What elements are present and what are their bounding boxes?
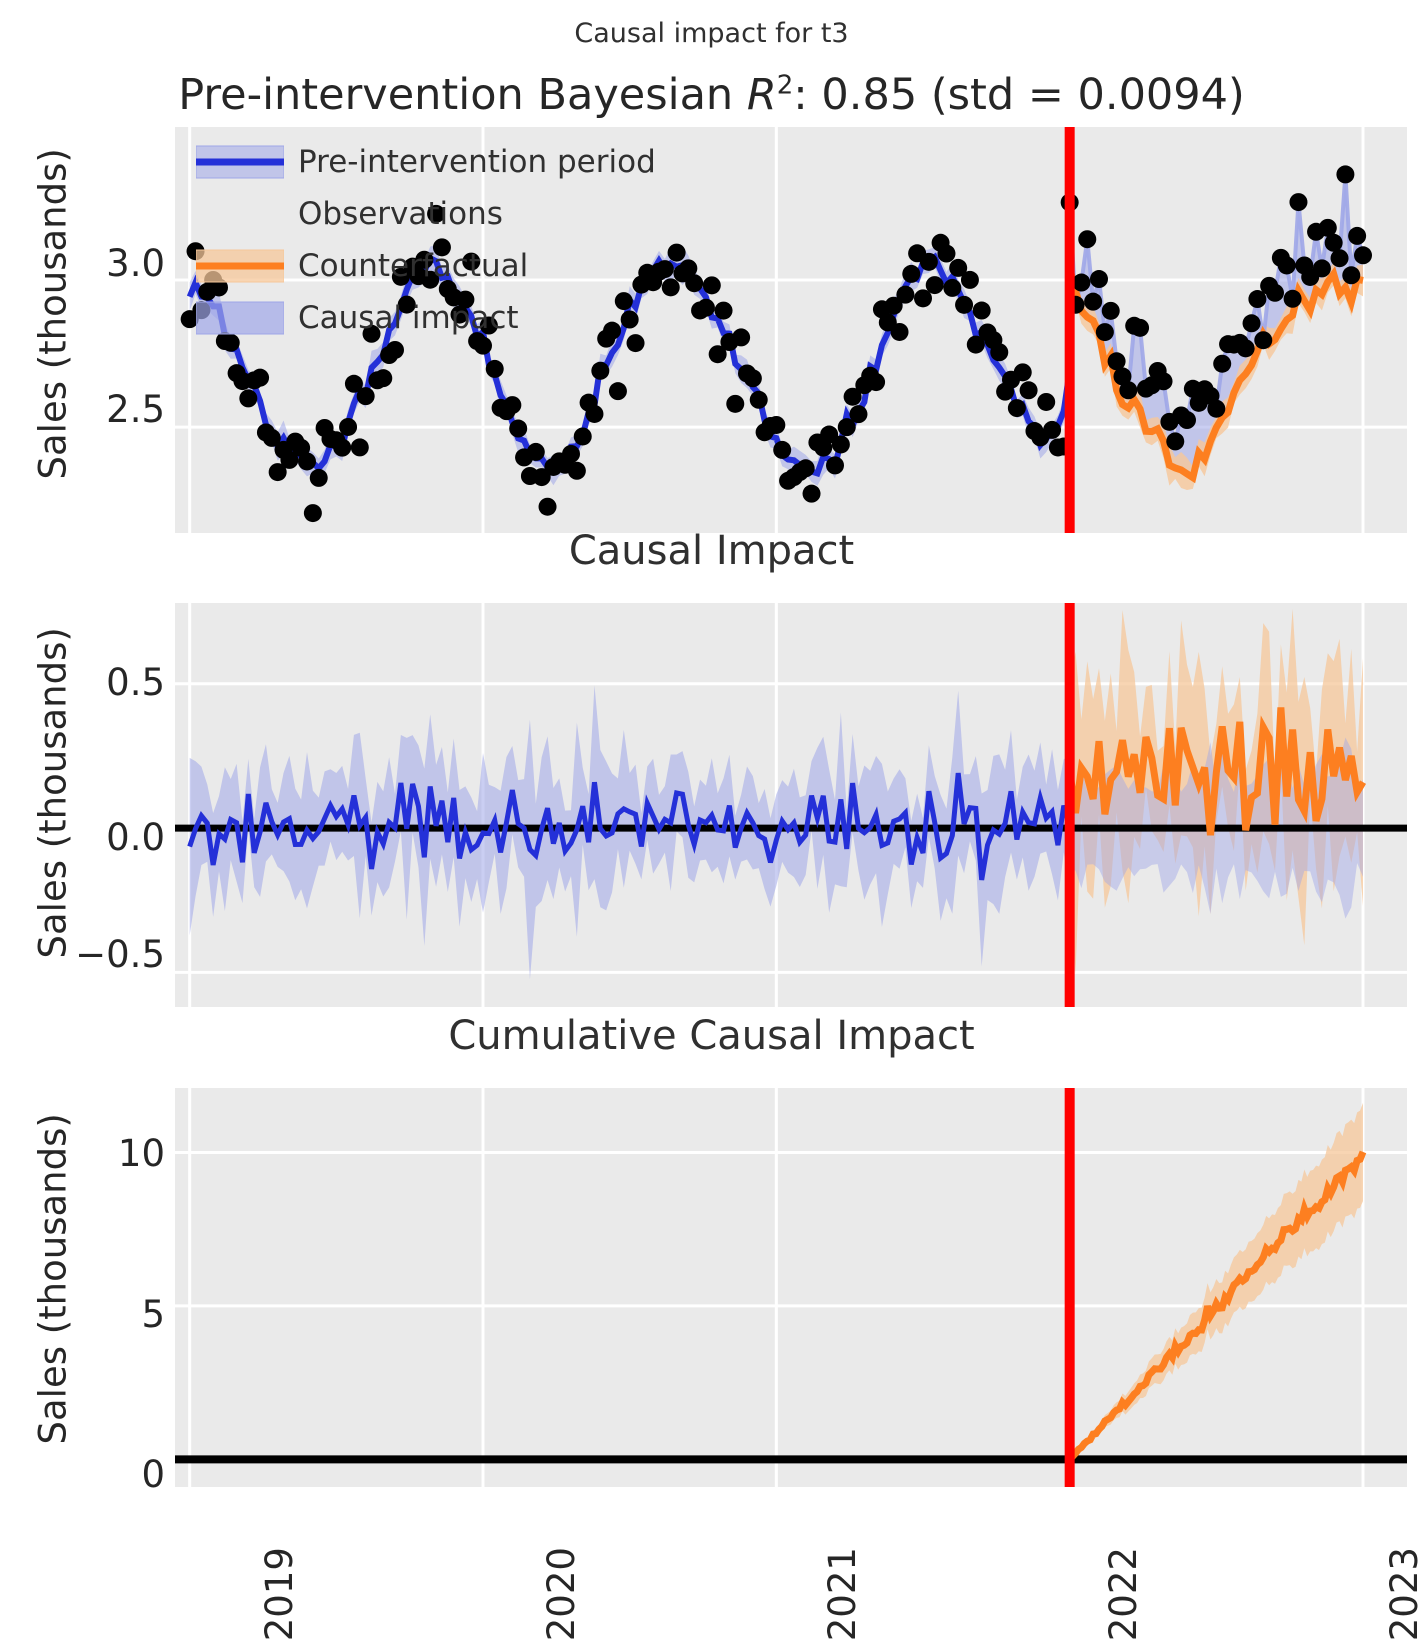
observation-dot — [826, 456, 844, 474]
observation-dot — [1020, 381, 1038, 399]
observation-dot — [251, 369, 269, 387]
observation-dot — [1037, 393, 1055, 411]
observation-dot — [1078, 230, 1096, 248]
observation-dot — [304, 504, 322, 522]
observation-dot — [697, 299, 715, 317]
observation-dot — [1266, 284, 1284, 302]
observation-dot — [1354, 246, 1372, 264]
observation-dot — [1178, 411, 1196, 429]
xtick-2020: 2020 — [540, 1547, 583, 1641]
observation-dot — [1043, 421, 1061, 439]
observation-dot — [685, 274, 703, 292]
panel1-ytick-3.0: 3.0 — [60, 242, 165, 285]
observation-dot — [891, 323, 909, 341]
observation-dot — [539, 498, 557, 516]
observation-dot — [474, 337, 492, 355]
observation-dot — [357, 387, 375, 405]
panel1-ytick-2.5: 2.5 — [60, 388, 165, 431]
observation-dot — [1342, 266, 1360, 284]
observation-dot — [1237, 339, 1255, 357]
observation-dot — [509, 420, 527, 438]
observation-dot — [955, 296, 973, 314]
observation-dot — [849, 405, 867, 423]
legend-label-causal-impact: Causal impact — [298, 300, 519, 336]
legend-key-counterfactual — [196, 248, 284, 284]
observation-dot — [374, 369, 392, 387]
panel1-title-suffix: : 0.85 (std = 0.0094) — [793, 70, 1245, 120]
observation-dot — [1325, 234, 1343, 252]
panel3-ytick-5: 5 — [60, 1293, 165, 1336]
observation-dot — [585, 405, 603, 423]
observation-dot — [568, 462, 586, 480]
observation-dot — [1243, 314, 1261, 332]
observation-dot — [797, 459, 815, 477]
panel2-ytick-0.5: 0.5 — [60, 661, 165, 704]
observation-dot — [527, 443, 545, 461]
observation-dot — [1008, 399, 1026, 417]
panel2-title: Causal Impact — [0, 528, 1423, 574]
observation-dot — [1284, 290, 1302, 308]
panel1-ylabel: Sales (thousands) — [32, 190, 75, 480]
observation-dot — [603, 322, 621, 340]
observation-dot — [333, 439, 351, 457]
legend-key-pre-intervention-period — [196, 144, 284, 180]
observation-dot — [1090, 270, 1108, 288]
observation-dot — [339, 418, 357, 436]
observation-dot — [222, 334, 240, 352]
observation-dot — [1207, 400, 1225, 418]
observation-dot — [627, 334, 645, 352]
observation-dot — [773, 441, 791, 459]
panel1-title-variable: R — [747, 70, 777, 120]
observation-dot — [926, 276, 944, 294]
observation-dot — [726, 395, 744, 413]
observation-dot — [744, 369, 762, 387]
legend-label-counterfactual: Counterfactual — [298, 248, 528, 284]
observation-dot — [310, 469, 328, 487]
observation-dot — [1084, 293, 1102, 311]
observation-dot — [1289, 193, 1307, 211]
legend-key-causal-impact — [196, 300, 284, 336]
observation-dot — [1119, 381, 1137, 399]
observation-dot — [1155, 372, 1173, 390]
panel3-title: Cumulative Causal Impact — [0, 1013, 1423, 1059]
observation-dot — [1336, 165, 1354, 183]
panel2-ytick--0.5: −0.5 — [38, 933, 165, 976]
observation-dot — [668, 244, 686, 262]
observation-dot — [239, 389, 257, 407]
observation-dot — [832, 435, 850, 453]
observation-dot — [715, 302, 733, 320]
observation-dot — [615, 292, 633, 310]
observation-dot — [621, 310, 639, 328]
observation-dot — [1166, 432, 1184, 450]
xtick-2023: 2023 — [1383, 1547, 1423, 1641]
observation-dot — [902, 265, 920, 283]
legend-label-pre-intervention-period: Pre-intervention period — [298, 144, 656, 180]
observation-dot — [656, 260, 674, 278]
observation-dot — [503, 396, 521, 414]
observation-dot — [867, 373, 885, 391]
panel-3-plot — [175, 1088, 1407, 1487]
panel2-ylabel: Sales (thousands) — [32, 669, 75, 959]
panel1-title-prefix: Pre-intervention Bayesian — [178, 70, 747, 120]
observation-dot — [1213, 355, 1231, 373]
observation-dot — [937, 245, 955, 263]
observation-dot — [591, 362, 609, 380]
observation-dot — [1096, 323, 1114, 341]
observation-dot — [1278, 256, 1296, 274]
observation-dot — [767, 416, 785, 434]
observation-dot — [1313, 259, 1331, 277]
observation-dot — [803, 485, 821, 503]
legend-label-observations: Observations — [298, 196, 503, 232]
observation-dot — [486, 360, 504, 378]
observation-dot — [386, 341, 404, 359]
xtick-2021: 2021 — [821, 1547, 864, 1641]
observation-dot — [562, 445, 580, 463]
xtick-2019: 2019 — [258, 1547, 301, 1641]
xtick-2022: 2022 — [1102, 1547, 1145, 1641]
observation-dot — [609, 382, 627, 400]
panel2-ytick-0.0: 0.0 — [60, 816, 165, 859]
observation-dot — [1131, 319, 1149, 337]
panel1-title: Pre-intervention Bayesian R2: 0.85 (std … — [0, 70, 1423, 120]
observation-dot — [1348, 227, 1366, 245]
observation-dot — [961, 271, 979, 289]
observation-dot — [1102, 302, 1120, 320]
observation-dot — [1014, 363, 1032, 381]
panel-2-plot — [175, 603, 1407, 1007]
observation-dot — [1254, 331, 1272, 349]
observation-dot — [973, 302, 991, 320]
observation-dot — [574, 427, 592, 445]
observation-dot — [732, 328, 750, 346]
observation-dot — [750, 391, 768, 409]
panel3-ytick-0: 0 — [60, 1453, 165, 1496]
observation-dot — [703, 276, 721, 294]
observation-dot — [1072, 274, 1090, 292]
legend-key-observations — [196, 196, 284, 232]
observation-dot — [1331, 249, 1349, 267]
observation-dot — [896, 286, 914, 304]
panel3-ytick-10: 10 — [60, 1132, 165, 1175]
observation-dot — [920, 253, 938, 271]
observation-dot — [943, 279, 961, 297]
figure-suptitle: Causal impact for t3 — [0, 18, 1423, 49]
panel1-title-exponent: 2 — [777, 71, 794, 101]
observation-dot — [990, 343, 1008, 361]
observation-dot — [662, 278, 680, 296]
observation-dot — [351, 438, 369, 456]
observation-dot — [298, 452, 316, 470]
